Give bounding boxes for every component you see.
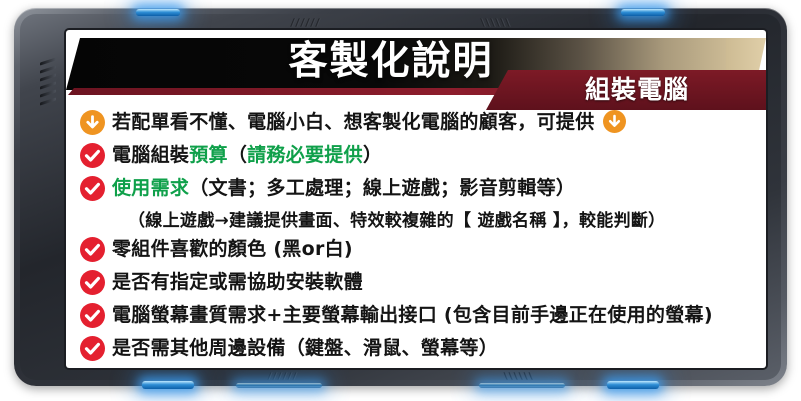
- text-span: 請務必要提供: [247, 144, 363, 166]
- bezel-vent-bottom-right: [505, 372, 532, 380]
- category-ribbon: 組裝電腦: [486, 70, 766, 110]
- list-item-text: （線上遊戲→建議提供畫面、特效較複雜的【 遊戲名稱 】，較能判斷）: [128, 207, 665, 235]
- monitor-screen: 客製化說明 組裝電腦 若配單看不懂、電腦小白、想客製化電腦的顧客，可提供電腦組裝…: [66, 30, 766, 368]
- text-span: （文書；多工處理；線上遊戲；影音剪輯等）: [189, 177, 575, 199]
- list-item-text: 電腦組裝預算（請務必要提供）: [112, 141, 382, 169]
- title-banner: 客製化說明 組裝電腦: [66, 38, 766, 100]
- bezel-vent-top-right: [482, 18, 509, 27]
- led-indicator-bottom-right: [607, 381, 659, 389]
- list-item: 零組件喜歡的顏色 (黑or白): [66, 235, 766, 268]
- text-span: 是否需其他周邊設備（鍵盤、滑鼠、螢幕等）: [112, 337, 498, 359]
- text-span: （線上遊戲→建議提供畫面、特效較複雜的【 遊戲名稱 】，較能判斷）: [128, 211, 665, 231]
- text-span: （: [228, 144, 247, 166]
- text-span: 零組件喜歡的顏色 (黑or白): [112, 238, 353, 260]
- text-span: 使用需求: [112, 177, 189, 199]
- list-item-text: 使用需求（文書；多工處理；線上遊戲；影音剪輯等）: [112, 174, 575, 202]
- text-span: 電腦組裝: [112, 144, 189, 166]
- list-item: 是否需其他周邊設備（鍵盤、滑鼠、螢幕等）: [66, 334, 766, 367]
- check-circle-icon: [80, 270, 105, 295]
- led-indicator-top-right: [621, 9, 665, 16]
- list-item: 電腦螢幕畫質需求+主要螢幕輸出接口 (包含目前手邊正在使用的螢幕): [66, 301, 766, 334]
- text-span: 若配單看不懂、電腦小白、想客製化電腦的顧客，可提供: [112, 111, 595, 133]
- list-item-text: 若配單看不懂、電腦小白、想客製化電腦的顧客，可提供: [112, 108, 626, 136]
- list-item: 若配單看不懂、電腦小白、想客製化電腦的顧客，可提供: [66, 108, 766, 141]
- list-item-text: 是否需其他周邊設備（鍵盤、滑鼠、螢幕等）: [112, 334, 498, 362]
- monitor-bezel: 客製化說明 組裝電腦 若配單看不懂、電腦小白、想客製化電腦的顧客，可提供電腦組裝…: [14, 8, 787, 386]
- text-span: 預算: [189, 144, 228, 166]
- check-circle-icon: [80, 336, 105, 361]
- arrow-down-icon: [80, 110, 105, 135]
- list-item-text: 零組件喜歡的顏色 (黑or白): [112, 235, 353, 263]
- check-circle-icon: [80, 237, 105, 262]
- category-ribbon-label: 組裝電腦: [486, 70, 766, 110]
- led-indicator-top-left: [136, 9, 180, 16]
- check-circle-icon: [80, 143, 105, 168]
- list-item-text: 電腦螢幕畫質需求+主要螢幕輸出接口 (包含目前手邊正在使用的螢幕): [112, 301, 713, 329]
- bezel-vent-top-left: [292, 18, 319, 27]
- check-circle-icon: [80, 303, 105, 328]
- list-item: 電腦組裝預算（請務必要提供）: [66, 141, 766, 174]
- led-strip-bottom-left: [236, 383, 322, 388]
- arrow-down-icon: [603, 110, 626, 133]
- check-circle-icon: [80, 176, 105, 201]
- text-span: ）: [363, 144, 382, 166]
- bezel-vent-bottom-left: [269, 372, 296, 380]
- poster-canvas: 客製化說明 組裝電腦 若配單看不懂、電腦小白、想客製化電腦的顧客，可提供電腦組裝…: [0, 0, 801, 401]
- list-item: 是否有指定或需協助安裝軟體: [66, 268, 766, 301]
- list-subnote: （線上遊戲→建議提供畫面、特效較複雜的【 遊戲名稱 】，較能判斷）: [66, 207, 766, 235]
- bezel-vent-left: [40, 60, 56, 108]
- requirements-list: 若配單看不懂、電腦小白、想客製化電腦的顧客，可提供電腦組裝預算（請務必要提供）使…: [66, 108, 766, 367]
- led-strip-bottom-right: [479, 383, 565, 388]
- text-span: 是否有指定或需協助安裝軟體: [112, 271, 363, 293]
- list-item: 使用需求（文書；多工處理；線上遊戲；影音剪輯等）: [66, 174, 766, 207]
- list-item-text: 是否有指定或需協助安裝軟體: [112, 268, 363, 296]
- led-indicator-bottom-left: [142, 381, 194, 389]
- text-span: 電腦螢幕畫質需求+主要螢幕輸出接口 (包含目前手邊正在使用的螢幕): [112, 304, 713, 326]
